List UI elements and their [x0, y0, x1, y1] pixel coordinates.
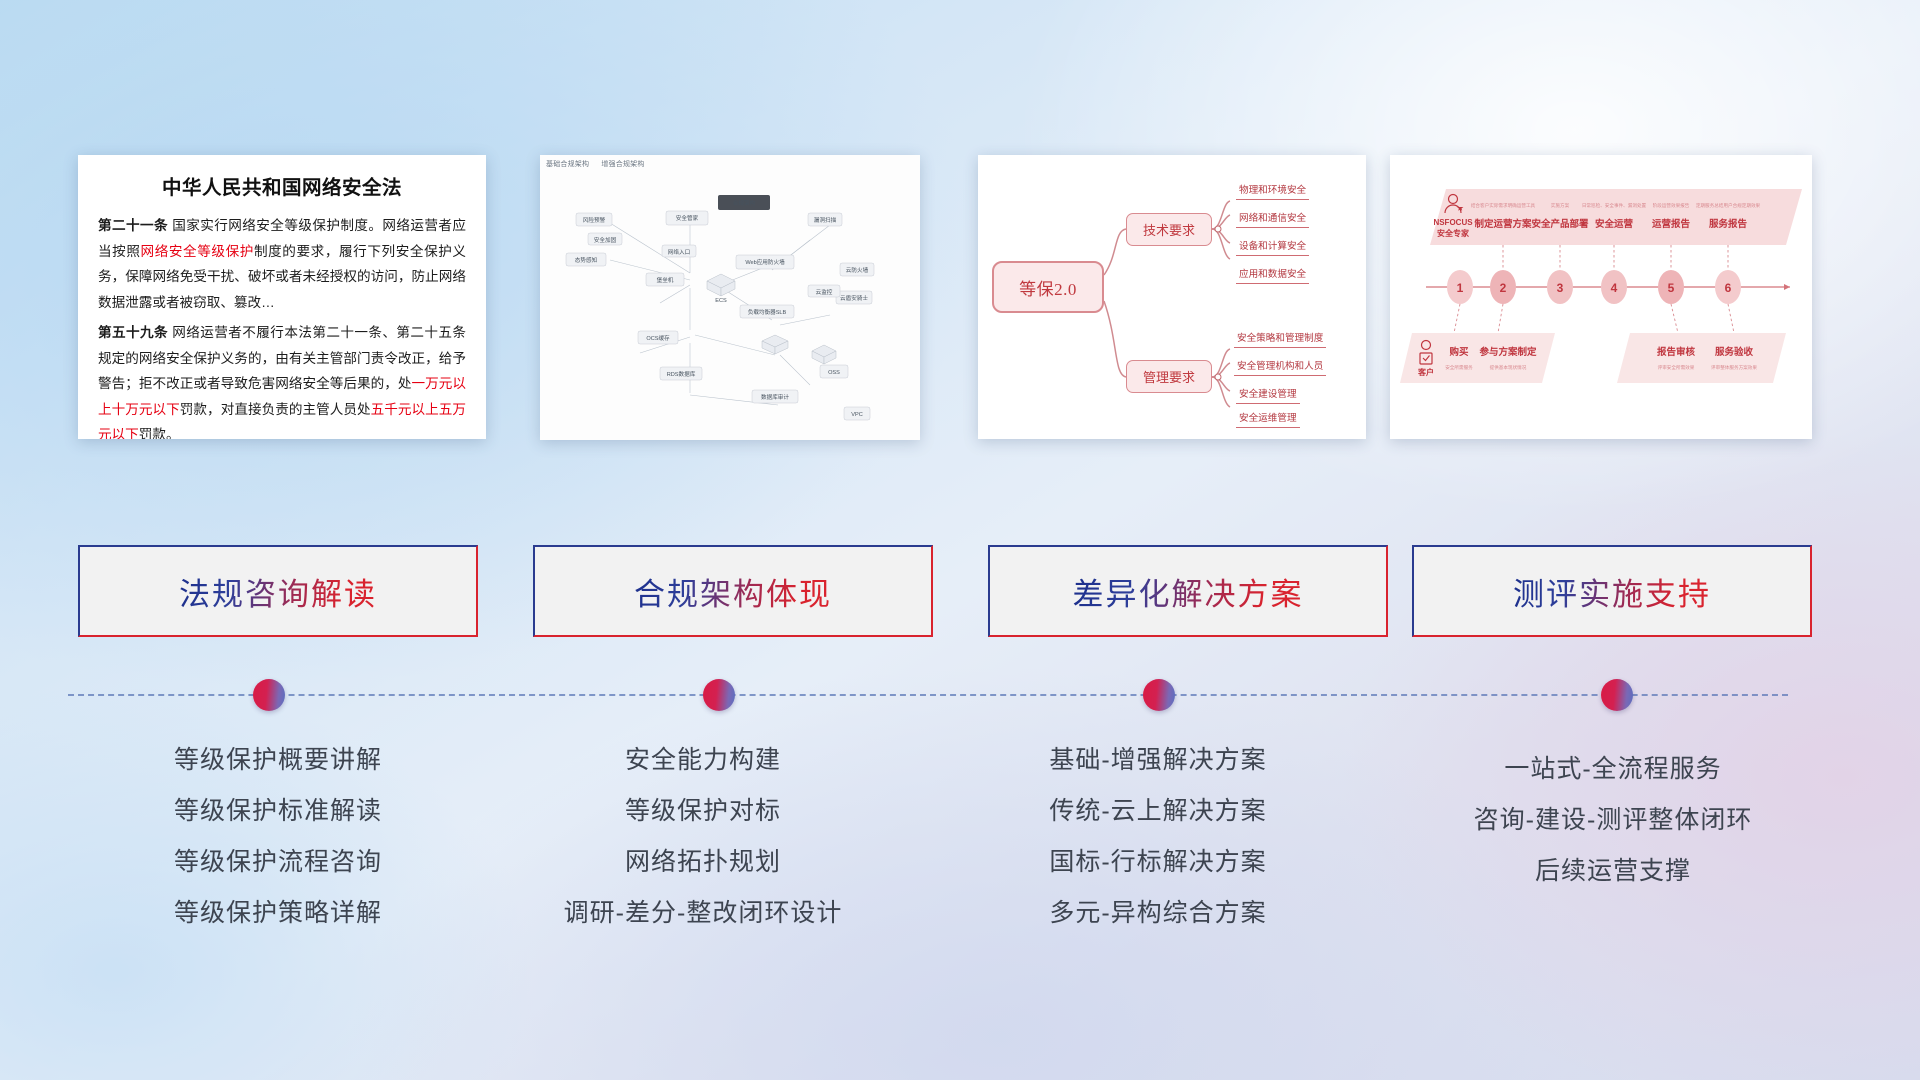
svg-text:云防火墙: 云防火墙 — [846, 266, 869, 274]
svg-text:风险预警: 风险预警 — [583, 216, 606, 224]
timeline-dot-3[interactable] — [1143, 679, 1175, 711]
list-item: 后续运营支撑 — [1378, 846, 1848, 897]
svg-text:NSFOCUS: NSFOCUS — [1433, 218, 1473, 227]
mindmap-leaf-tech-2[interactable]: 网络和通信安全 — [1236, 213, 1309, 228]
label-button-assessment-support[interactable]: 测评实施支持 — [1412, 545, 1812, 637]
svg-text:1: 1 — [1457, 281, 1464, 295]
svg-text:5: 5 — [1668, 281, 1675, 295]
svg-text:Web应用防火墙: Web应用防火墙 — [745, 258, 785, 266]
list-item: 基础-增强解决方案 — [948, 735, 1368, 786]
mindmap-leaf-tech-3[interactable]: 设备和计算安全 — [1236, 241, 1309, 256]
svg-text:OCS缓存: OCS缓存 — [646, 334, 670, 342]
list-item: 调研-差分-整改闭环设计 — [468, 888, 938, 939]
label-button-differentiated-solution[interactable]: 差异化解决方案 — [988, 545, 1388, 637]
list-item: 咨询-建设-测评整体闭环 — [1378, 795, 1848, 846]
service-list-compliance-architecture: 安全能力构建 等级保护对标 网络拓扑规划 调研-差分-整改闭环设计 — [468, 735, 938, 939]
list-item: 等级保护对标 — [468, 786, 938, 837]
roadmap-svg: 1 2 3 4 5 6 — [1390, 155, 1812, 439]
svg-text:实施方案: 实施方案 — [1551, 202, 1570, 209]
service-list-differentiated-solution: 基础-增强解决方案 传统-云上解决方案 国标-行标解决方案 多元-异构综合方案 — [948, 735, 1368, 939]
svg-text:2: 2 — [1500, 281, 1507, 295]
svg-text:ECS: ECS — [715, 298, 727, 304]
mindmap-leaf-tech-1[interactable]: 物理和环境安全 — [1236, 185, 1309, 200]
card-dengbao-mindmap[interactable]: 等保2.0 技术要求 管理要求 物理和环境安全 网络和通信安全 设备和计算安全 … — [978, 155, 1366, 439]
roadmap-diagram: 1 2 3 4 5 6 — [1390, 155, 1812, 439]
mindmap-leaf-mgmt-4[interactable]: 安全运维管理 — [1236, 413, 1300, 428]
mindmap-leaf-mgmt-1[interactable]: 安全策略和管理制度 — [1234, 333, 1326, 348]
mindmap: 等保2.0 技术要求 管理要求 物理和环境安全 网络和通信安全 设备和计算安全 … — [978, 155, 1366, 439]
article-59-body-b: 罚款，对直接负责的主管人员处 — [180, 402, 371, 417]
svg-text:云盾安骑士: 云盾安骑士 — [840, 294, 868, 302]
law-document: 中华人民共和国网络安全法 第二十一条 国家实行网络安全等级保护制度。网络运营者应… — [78, 155, 486, 439]
svg-text:安全管家: 安全管家 — [676, 214, 699, 222]
article-59-body-c: 罚款。 — [139, 427, 180, 439]
svg-text:漏洞扫描: 漏洞扫描 — [814, 216, 837, 224]
svg-text:服务验收: 服务验收 — [1715, 346, 1754, 358]
svg-text:制定运营方案: 制定运营方案 — [1474, 218, 1532, 230]
svg-text:OSS: OSS — [828, 370, 840, 376]
list-item: 一站式-全流程服务 — [1378, 744, 1848, 795]
article-59-label: 第五十九条 — [98, 325, 168, 340]
label-button-assessment-support-text: 测评实施支持 — [1513, 569, 1711, 614]
svg-text:堡垒机: 堡垒机 — [657, 276, 674, 284]
svg-text:安全运营: 安全运营 — [1595, 218, 1634, 230]
label-button-differentiated-solution-text: 差异化解决方案 — [1073, 569, 1304, 614]
law-title: 中华人民共和国网络安全法 — [98, 171, 466, 200]
list-item: 网络拓扑规划 — [468, 837, 938, 888]
mindmap-leaf-mgmt-3[interactable]: 安全建设管理 — [1236, 389, 1300, 404]
svg-text:结合客户实际需求明确运营工具: 结合客户实际需求明确运营工具 — [1471, 202, 1536, 209]
svg-text:运营报告: 运营报告 — [1652, 218, 1691, 230]
svg-text:日常巡检、安全事件、漏洞处置: 日常巡检、安全事件、漏洞处置 — [1582, 202, 1647, 209]
service-list-row: 等级保护概要讲解 等级保护标准解读 等级保护流程咨询 等级保护策略详解 安全能力… — [0, 735, 1920, 975]
svg-text:安全所需服务: 安全所需服务 — [1445, 364, 1473, 371]
architecture-diagram: 基础合规架构 增强合规架构 — [540, 155, 920, 440]
mindmap-branch-management[interactable]: 管理要求 — [1126, 360, 1212, 393]
svg-text:定期服务总结用户合规定期效果: 定期服务总结用户合规定期效果 — [1696, 202, 1761, 209]
svg-text:网络入口: 网络入口 — [668, 248, 690, 256]
list-item: 等级保护策略详解 — [78, 888, 478, 939]
svg-text:安全产品部署: 安全产品部署 — [1531, 218, 1589, 230]
label-button-regulation-consulting-text: 法规咨询解读 — [179, 569, 377, 614]
timeline — [0, 660, 1920, 720]
svg-text:安全专家: 安全专家 — [1437, 228, 1470, 238]
law-article-59: 第五十九条 网络运营者不履行本法第二十一条、第二十五条规定的网络安全保护义务的，… — [98, 320, 466, 439]
svg-text:服务报告: 服务报告 — [1709, 218, 1748, 230]
svg-text:6: 6 — [1725, 281, 1732, 295]
mindmap-leaf-tech-4[interactable]: 应用和数据安全 — [1236, 269, 1309, 284]
mindmap-root[interactable]: 等保2.0 — [992, 261, 1104, 313]
service-list-regulation-consulting: 等级保护概要讲解 等级保护标准解读 等级保护流程咨询 等级保护策略详解 — [78, 735, 478, 939]
card-row: 中华人民共和国网络安全法 第二十一条 国家实行网络安全等级保护制度。网络运营者应… — [0, 0, 1920, 450]
svg-text:合规架构: 合规架构 — [733, 199, 756, 207]
svg-text:报告审核: 报告审核 — [1657, 346, 1696, 358]
svg-text:购买: 购买 — [1449, 346, 1469, 358]
svg-text:提供基本现状情况: 提供基本现状情况 — [1490, 364, 1527, 371]
timeline-dashed-line — [68, 694, 1788, 696]
svg-text:RDS数据库: RDS数据库 — [667, 370, 696, 378]
list-item: 等级保护标准解读 — [78, 786, 478, 837]
card-service-roadmap[interactable]: 1 2 3 4 5 6 — [1390, 155, 1812, 439]
article-21-label: 第二十一条 — [98, 218, 168, 233]
svg-text:阶段运营效果报告: 阶段运营效果报告 — [1653, 202, 1690, 209]
svg-text:态势感知: 态势感知 — [575, 256, 598, 264]
list-item: 国标-行标解决方案 — [948, 837, 1368, 888]
card-compliance-architecture[interactable]: 基础合规架构 增强合规架构 — [540, 155, 920, 440]
list-item: 安全能力构建 — [468, 735, 938, 786]
slide-canvas: 中华人民共和国网络安全法 第二十一条 国家实行网络安全等级保护制度。网络运营者应… — [0, 0, 1920, 1080]
label-button-row: 法规咨询解读 合规架构体现 差异化解决方案 测评实施支持 — [0, 545, 1920, 655]
svg-text:3: 3 — [1557, 281, 1564, 295]
svg-text:负载均衡器SLB: 负载均衡器SLB — [748, 308, 787, 316]
label-button-compliance-architecture-text: 合规架构体现 — [634, 569, 832, 614]
svg-text:VPC: VPC — [851, 412, 863, 418]
svg-text:参与方案制定: 参与方案制定 — [1478, 346, 1537, 358]
list-item: 传统-云上解决方案 — [948, 786, 1368, 837]
timeline-dot-4[interactable] — [1601, 679, 1633, 711]
svg-text:数据库审计: 数据库审计 — [761, 393, 789, 401]
svg-text:客户: 客户 — [1417, 367, 1434, 377]
timeline-dot-1[interactable] — [253, 679, 285, 711]
card-cybersecurity-law[interactable]: 中华人民共和国网络安全法 第二十一条 国家实行网络安全等级保护制度。网络运营者应… — [78, 155, 486, 439]
list-item: 等级保护流程咨询 — [78, 837, 478, 888]
service-list-assessment-support: 一站式-全流程服务 咨询-建设-测评整体闭环 后续运营支撑 — [1378, 744, 1848, 897]
list-item: 多元-异构综合方案 — [948, 888, 1368, 939]
label-button-compliance-architecture[interactable]: 合规架构体现 — [533, 545, 933, 637]
law-article-21: 第二十一条 国家实行网络安全等级保护制度。网络运营者应当按照网络安全等级保护制度… — [98, 213, 466, 315]
label-button-regulation-consulting[interactable]: 法规咨询解读 — [78, 545, 478, 637]
architecture-svg: 合规架构 风险预警 态势感知 安全管家 堡垒机 Web应用防火墙 — [540, 155, 920, 440]
svg-text:评审安全所需效果: 评审安全所需效果 — [1658, 364, 1695, 371]
svg-text:云监控: 云监控 — [816, 288, 833, 296]
article-21-highlight: 网络安全等级保护 — [141, 244, 254, 259]
mindmap-branch-technical[interactable]: 技术要求 — [1126, 213, 1212, 246]
timeline-dot-2[interactable] — [703, 679, 735, 711]
list-item: 等级保护概要讲解 — [78, 735, 478, 786]
svg-text:安全加固: 安全加固 — [594, 236, 617, 244]
mindmap-leaf-mgmt-2[interactable]: 安全管理机构和人员 — [1234, 361, 1326, 376]
svg-text:评审整体服务方案效果: 评审整体服务方案效果 — [1711, 364, 1757, 371]
svg-text:4: 4 — [1611, 281, 1618, 295]
